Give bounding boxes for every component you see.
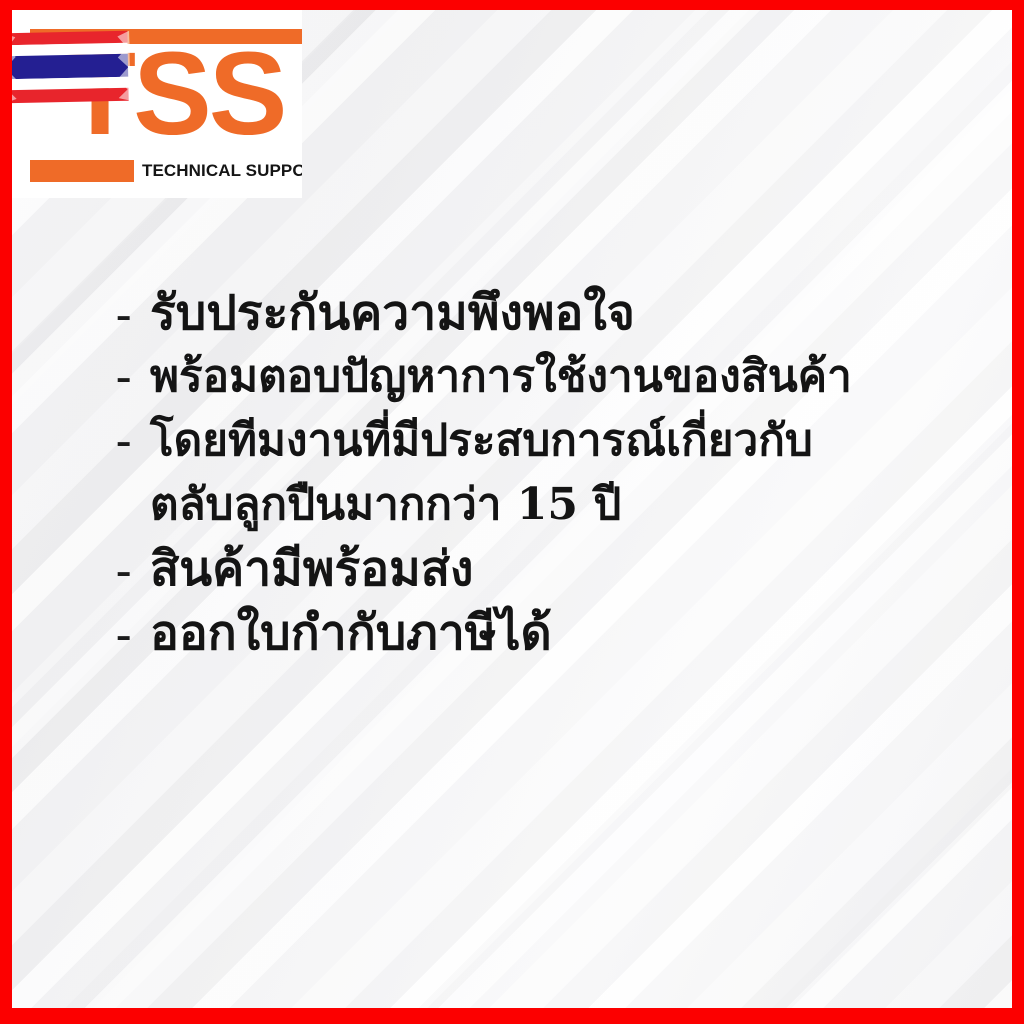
feature-list: - รับประกันความพึงพอใจ - พร้อมตอบปัญหากา… [106,282,992,666]
promo-banner: TSS TECHNICAL SUPPORT SHOP - รับประกันคว… [0,0,1024,1024]
list-item: - ออกใบกำกับภาษีได้ [106,602,992,666]
content-panel: TSS TECHNICAL SUPPORT SHOP - รับประกันคว… [12,10,1012,1008]
bullet-dash: - [106,284,150,344]
thailand-flag-icon [12,31,129,104]
list-item: - รับประกันความพึงพอใจ [106,282,992,346]
flag-stripe-red-bottom [12,88,129,103]
bullet-text: ตลับลูกปืนมากกว่า 15 ปี [150,474,621,536]
bullet-text: โดยทีมงานที่มีประสบการณ์เกี่ยวกับ [150,410,813,472]
bullet-dash: - [106,540,150,600]
list-item: - พร้อมตอบปัญหาการใช้งานของสินค้า [106,346,992,410]
logo-bottom-bar [30,160,134,182]
bullet-text: สินค้ามีพร้อมส่ง [150,538,473,600]
bullet-dash: - [106,604,150,664]
tss-logo: TSS TECHNICAL SUPPORT SHOP [12,10,302,198]
list-item-continuation: ตลับลูกปืนมากกว่า 15 ปี [106,474,992,538]
list-item: - โดยทีมงานที่มีประสบการณ์เกี่ยวกับ [106,410,992,474]
flag-stripe-blue [12,54,128,80]
bullet-dash: - [106,346,150,406]
logo-tagline: TECHNICAL SUPPORT SHOP [142,160,302,182]
bullet-text: ออกใบกำกับภาษีได้ [150,602,552,664]
bullet-dash: - [106,410,150,470]
list-item: - สินค้ามีพร้อมส่ง [106,538,992,602]
bullet-text: พร้อมตอบปัญหาการใช้งานของสินค้า [150,346,852,408]
bullet-text: รับประกันความพึงพอใจ [150,282,635,344]
